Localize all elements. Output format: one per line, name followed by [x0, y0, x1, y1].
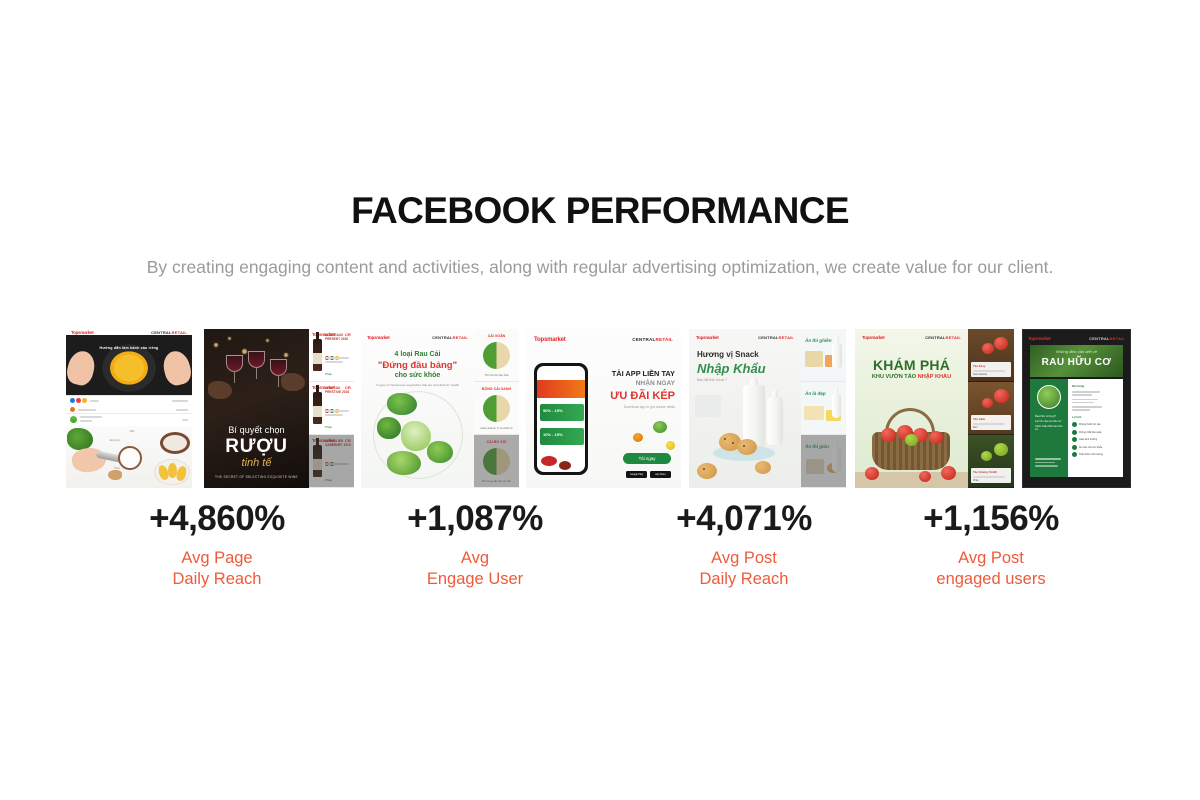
apple-card-title: Táo Granny Smith	[973, 470, 1009, 474]
google-play-badge[interactable]: Google Play	[626, 471, 647, 478]
hand-right	[281, 373, 305, 391]
wine-card-origin: Pháp	[325, 478, 332, 482]
plate-durian	[154, 459, 190, 485]
vegetable-bokchoy	[401, 421, 431, 451]
infographic-sidebar: Rau hữu cơ là gì? Lợi ích của rau hữu cơ…	[1030, 379, 1068, 477]
vegetable-product-cards: CẢI XOĂN Tốt cho hệ tiêu hóa BÔNG CẢI XA…	[474, 329, 519, 488]
list-item[interactable]: Ăn thì giòn	[801, 435, 846, 488]
wine-line-4: THE SECRET OF SELECTING EXQUISITE WINE	[204, 475, 309, 479]
hand-right	[160, 348, 192, 387]
apple-card-origin: Pháp	[973, 479, 1009, 482]
stat-label: Avg Page Daily Reach	[112, 548, 322, 590]
avatar	[70, 416, 77, 423]
brand-logo-central-retail: CENTRALRETAIL	[632, 337, 673, 343]
post-reactions-bar	[66, 395, 192, 411]
wine-line-3: tinh tế	[204, 457, 309, 469]
brand-logo-central-retail: CENTRALRETAIL	[1089, 336, 1125, 341]
list-item-3: Giàu dinh dưỡng	[1079, 438, 1097, 441]
vegetable-spinach	[427, 441, 453, 463]
stat-label: Avg Post Daily Reach	[639, 548, 849, 590]
infographic-content: Nội dung Lợi ích Không thuốc trừ sâu Khô…	[1068, 379, 1123, 477]
page-subtitle: By creating engaging content and activit…	[0, 252, 1200, 282]
post-photo-ingredients: Đường Bột Sữa	[66, 426, 192, 488]
creative-thumbnail-strip: Topsmarket CENTRALRETAIL Hướng dẫn làm b…	[0, 329, 1200, 489]
apple-card-title: Táo Gala	[973, 417, 1009, 421]
hero-headline: Hướng dẫn làm bánh sầu riêng	[100, 346, 159, 350]
veg-line-2: "Đứng đầu bảng"	[361, 360, 474, 371]
milk-bottle-small	[767, 397, 783, 445]
veg-card-title: BÔNG CẢI XANH	[474, 387, 519, 391]
list-item-2: Không chất bảo quản	[1079, 431, 1102, 434]
vegetable-kale	[387, 393, 417, 415]
vegetable-hero: Topsmarket CENTRALRETAIL 4 loại Rau Cải …	[361, 329, 474, 488]
slide-canvas: FACEBOOK PERFORMANCE By creating engagin…	[0, 0, 1200, 800]
stat-value: +1,156%	[886, 497, 1096, 541]
wine-card-origin: Pháp	[325, 372, 332, 376]
creative-thumbnail-vegetable-health[interactable]: Topsmarket CENTRALRETAIL 4 loại Rau Cải …	[361, 329, 519, 488]
snack-line-1: Hương vị Snack	[697, 350, 759, 359]
app-line-1: TẢI APP LIỀN TAY	[612, 369, 675, 378]
brand-logo-topsmarket: Topsmarket	[1028, 336, 1051, 341]
creative-thumbnail-wine-guide[interactable]: Bí quyết chọn RƯỢU tinh tế THE SECRET OF…	[204, 329, 354, 488]
app-store-badge[interactable]: App Store	[650, 471, 671, 478]
stat-avg-post-engaged-users: +1,156% Avg Post engaged users	[886, 497, 1096, 590]
wine-glass-2	[248, 351, 265, 368]
veg-line-4: 4 types of Vietnamese Vegetables that ar…	[361, 383, 474, 387]
list-item-4: An toàn cho sức khỏe	[1079, 446, 1102, 449]
apple-product-cards: Táo Envy New Zealand Táo Gala Đức	[968, 329, 1014, 488]
bowl-white	[118, 446, 142, 470]
list-item-5: Thân thiện môi trường	[1079, 453, 1103, 456]
apple-line-1: KHÁM PHÁ	[855, 357, 968, 373]
list-item[interactable]: BÔNG CẢI XANH Giàu vitamin C và chất xơ	[474, 382, 519, 435]
vegetable-cabbage	[387, 451, 421, 475]
sidebar-item-2: Lợi ích của rau hữu cơ	[1035, 420, 1064, 423]
stat-value: +4,071%	[639, 497, 849, 541]
sidebar-item-3: Cách nhận biết rau hữu cơ	[1035, 425, 1064, 431]
bowl-brown	[160, 432, 190, 454]
creative-thumbnail-app-download-promo[interactable]: Topsmarket CENTRALRETAIL 50% - 15% 10% -…	[526, 329, 681, 488]
stat-avg-page-daily-reach: +4,860% Avg Page Daily Reach	[112, 497, 322, 590]
list-item[interactable]: Táo Envy New Zealand	[968, 329, 1014, 382]
ginger	[108, 470, 122, 480]
list-item[interactable]: Ăn thì ghiền	[801, 329, 846, 382]
veg-card-title: CẢI XOĂN	[474, 334, 519, 338]
vegetable-broccoli	[377, 417, 401, 439]
app-line-3: ƯU ĐÃI KÉP	[610, 390, 675, 402]
floating-fruit	[633, 433, 643, 442]
snack-card-title: Ăn là đẹp	[805, 391, 826, 396]
list-item[interactable]: CẢI BÓ XÔI Bổ sung sắt cho cơ thể	[474, 435, 519, 488]
comment-row	[70, 407, 96, 412]
check-icon	[1072, 445, 1077, 450]
wine-card-title: CHEVALIER CABERNET 2019	[325, 439, 351, 447]
vegetable-badge-icon	[1037, 385, 1061, 409]
snack-card-title: Ăn thì giòn	[805, 444, 829, 449]
hand-with-spoon	[70, 446, 107, 474]
apple-card-origin: New Zealand	[973, 373, 1009, 376]
app-line-4: Download app to get double deals	[624, 405, 675, 409]
creative-thumbnail-durian-cake-post[interactable]: Topsmarket CENTRALRETAIL Hướng dẫn làm b…	[66, 329, 192, 488]
brand-logo-topsmarket: Topsmarket	[71, 330, 94, 335]
creative-thumbnail-imported-apples[interactable]: Topsmarket CENTRALRETAIL KHÁM PHÁ KHU VƯ…	[855, 329, 1014, 488]
list-item[interactable]: Ăn là đẹp	[801, 382, 846, 435]
list-item[interactable]: TopsmarketCR BORDEAUX PRESENT 2016 Pháp	[309, 329, 354, 382]
brand-logo-central-retail: CENTRALRETAIL	[151, 330, 187, 335]
cookie-4	[755, 461, 771, 474]
wine-line-1: Bí quyết chọn	[204, 425, 309, 435]
wine-card-origin: Pháp	[325, 425, 332, 429]
post-sub-header	[66, 413, 192, 425]
reaction-icons	[70, 398, 99, 403]
hand-left	[208, 381, 232, 399]
stat-value: +4,860%	[112, 497, 322, 541]
apple-line-2-red: NHẬP KHẨU	[918, 374, 951, 380]
stat-avg-post-daily-reach: +4,071% Avg Post Daily Reach	[639, 497, 849, 590]
phone-mockup: 50% - 15% 10% - 15%	[534, 363, 588, 475]
wine-glass-1	[226, 355, 243, 372]
snack-product-cards: Ăn thì ghiền Ăn là đẹp Ăn thì giòn	[801, 329, 846, 488]
page-title: FACEBOOK PERFORMANCE	[0, 190, 1200, 232]
brand-logo-topsmarket: Topsmarket	[862, 335, 885, 340]
list-item[interactable]: TopsmarketCR CHATEAU PRESTIGE 2018 Pháp	[309, 382, 354, 435]
offer-2: 10% - 15%	[543, 432, 563, 437]
snack-line-3: Bạn đã thử chưa ?	[697, 378, 727, 382]
floating-lemon	[666, 441, 675, 450]
infographic-hero: Những điều cần biết về RAU HỮU CƠ	[1030, 345, 1123, 377]
post-hero-image: Hướng dẫn làm bánh sầu riêng	[66, 335, 192, 395]
brand-logo-central-retail: CENTRALRETAIL	[925, 335, 961, 340]
apple-card-title: Táo Envy	[973, 364, 1009, 368]
infographic-title: RAU HỮU CƠ	[1030, 357, 1123, 368]
wine-card-title: BORDEAUX PRESENT 2016	[325, 333, 351, 341]
brand-logo-topsmarket: Topsmarket	[696, 335, 719, 340]
wine-line-2: RƯỢU	[204, 436, 309, 458]
download-cta-button[interactable]: Tải ngay	[623, 453, 671, 464]
napkin	[695, 395, 721, 417]
wine-product-cards: TopsmarketCR BORDEAUX PRESENT 2016 Pháp …	[309, 329, 354, 488]
veg-line-3: cho sức khỏe	[361, 372, 474, 379]
stat-label: Avg Engage User	[370, 548, 580, 590]
veg-card-note: Tốt cho hệ tiêu hóa	[474, 373, 519, 377]
list-item[interactable]: CẢI XOĂN Tốt cho hệ tiêu hóa	[474, 329, 519, 382]
veg-card-note: Giàu vitamin C và chất xơ	[474, 426, 519, 430]
snack-hero: Topsmarket CENTRALRETAIL Hương vị Snack …	[689, 329, 801, 488]
snack-line-2: Nhập Khẩu	[697, 361, 766, 376]
stat-value: +1,087%	[370, 497, 580, 541]
sidebar-item-1: Rau hữu cơ là gì?	[1035, 415, 1064, 418]
wine-card-title: CHATEAU PRESTIGE 2018	[325, 386, 351, 394]
check-icon	[1072, 452, 1077, 457]
stat-label: Avg Post engaged users	[886, 548, 1096, 590]
list-item[interactable]: Táo Gala Đức	[968, 382, 1014, 435]
cookie-3	[697, 463, 717, 479]
brand-logo-central-retail: CENTRALRETAIL	[432, 335, 468, 340]
veg-card-note: Bổ sung sắt cho cơ thể	[474, 479, 519, 483]
check-icon	[1072, 437, 1077, 442]
list-item[interactable]: Táo Granny Smith Pháp	[968, 435, 1014, 488]
offer-1: 50% - 15%	[543, 408, 563, 413]
apple-hero: Topsmarket CENTRALRETAIL KHÁM PHÁ KHU VƯ…	[855, 329, 968, 488]
milk-bottle-large	[743, 385, 765, 447]
list-item[interactable]: TopsmarketCR CHEVALIER CABERNET 2019 Phá…	[309, 435, 354, 488]
herbs	[67, 428, 93, 450]
wine-hero: Bí quyết chọn RƯỢU tinh tế THE SECRET OF…	[204, 329, 309, 488]
apple-line-2: KHU VƯỜN TÁO NHẬP KHẨU	[855, 374, 968, 380]
apple-card-origin: Đức	[973, 426, 1009, 429]
snack-card-title: Ăn thì ghiền	[805, 338, 832, 343]
stat-avg-engage-user: +1,087% Avg Engage User	[370, 497, 580, 590]
check-icon	[1072, 422, 1077, 427]
check-icon	[1072, 430, 1077, 435]
list-item-1: Không thuốc trừ sâu	[1079, 423, 1101, 426]
apple-line-2-green: KHU VƯỜN TÁO	[872, 374, 916, 380]
creative-thumbnail-imported-snack[interactable]: Topsmarket CENTRALRETAIL Hương vị Snack …	[689, 329, 846, 488]
brand-logo-topsmarket: Topsmarket	[534, 337, 566, 343]
infographic-eyebrow: Những điều cần biết về	[1030, 349, 1123, 354]
floating-vegetable	[653, 421, 667, 433]
creative-thumbnail-organic-vegetables-infographic[interactable]: Topsmarket CENTRALRETAIL Những điều cần …	[1022, 329, 1131, 488]
hand-left	[66, 348, 98, 387]
app-line-2: NHẬN NGAY	[636, 380, 675, 387]
veg-card-title: CẢI BÓ XÔI	[474, 440, 519, 444]
brand-logo-central-retail: CENTRALRETAIL	[758, 335, 794, 340]
veg-line-1: 4 loại Rau Cải	[361, 351, 474, 358]
brand-logo-topsmarket: Topsmarket	[367, 335, 390, 340]
cookie-2	[737, 439, 757, 455]
